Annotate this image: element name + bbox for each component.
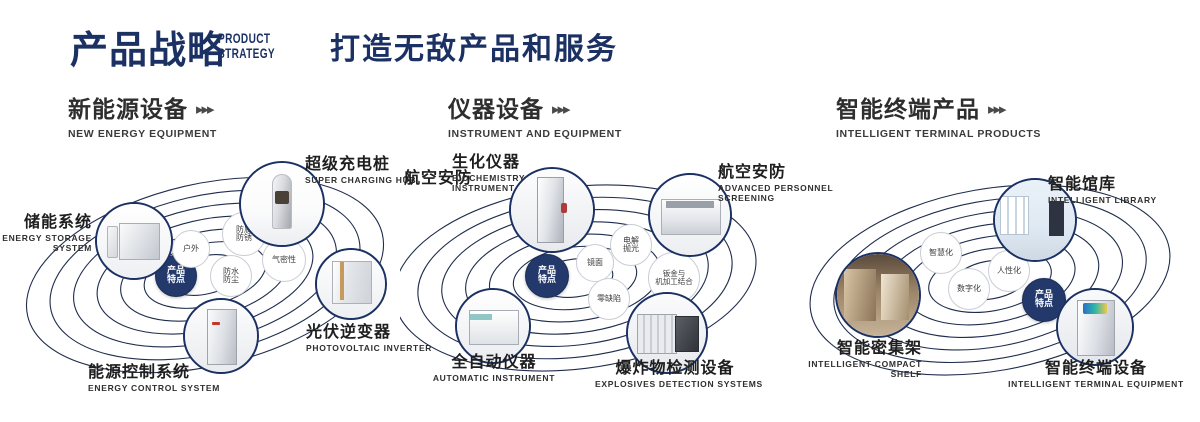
intelligent-terminal-equipment-photo	[1058, 290, 1132, 364]
product-circle-intelligent-compact-shelf[interactable]	[835, 252, 921, 338]
product-label-cn: 能源控制系统	[88, 362, 220, 381]
section-title-en: INSTRUMENT AND EQUIPMENT	[448, 128, 622, 140]
section-title-intelligent-terminal: 智能终端产品▸▸▸ INTELLIGENT TERMINAL PRODUCTS	[836, 96, 1041, 140]
section-title-en: INTELLIGENT TERMINAL PRODUCTS	[836, 128, 1041, 140]
product-label-en: INTELLIGENT TERMINAL EQUIPMENT	[998, 379, 1194, 389]
product-label-en: ENERGY CONTROL SYSTEM	[88, 383, 220, 393]
product-label-cn: 储能系统	[0, 212, 92, 231]
feature-bubble: 智慧化	[920, 232, 962, 274]
product-label-biochemistry-instrument: 生化仪器 BIOCHEMISTRY INSTRUMENT	[452, 152, 525, 193]
product-label-intelligent-compact-shelf: 智能密集架 INTELLIGENT COMPACT SHELF	[722, 338, 922, 379]
intelligent-compact-shelf-photo	[837, 254, 919, 336]
product-label-intelligent-terminal-equipment: 智能终端设备 INTELLIGENT TERMINAL EQUIPMENT	[998, 358, 1194, 389]
product-label-energy-storage-system: 储能系统 ENERGY STORAGE SYSTEM	[0, 212, 92, 253]
product-label-cn: 智能密集架	[722, 338, 922, 357]
product-label-cn: 生化仪器	[452, 152, 525, 171]
product-label-energy-control-system: 能源控制系统 ENERGY CONTROL SYSTEM	[88, 362, 220, 393]
section-title-cn: 智能终端产品▸▸▸	[836, 96, 1041, 123]
section-title-new-energy: 新能源设备▸▸▸ NEW ENERGY EQUIPMENT	[68, 96, 217, 140]
product-label-cn: 全自动仪器	[422, 352, 566, 371]
page-title: 产品战略	[70, 28, 226, 72]
product-label-en: BIOCHEMISTRY INSTRUMENT	[452, 173, 525, 193]
feature-bubble: 户外	[172, 230, 210, 268]
section-title-cn: 新能源设备▸▸▸	[68, 96, 217, 123]
product-label-en: AUTOMATIC INSTRUMENT	[422, 373, 566, 383]
page-tagline: 打造无敌产品和服务	[330, 30, 618, 70]
page-header: 产品战略 PRODUCT STRATEGY 打造无敌产品和服务	[0, 0, 1200, 82]
product-label-cn: 智能馆库	[1048, 174, 1157, 193]
section-title-instrument: 仪器设备▸▸▸ INSTRUMENT AND EQUIPMENT	[448, 96, 622, 140]
feature-bubble: 数字化	[948, 268, 990, 310]
page-title-english-line1: PRODUCT	[218, 31, 275, 46]
product-group-new-energy: 产品 特点 户外 防腐 防锈 防水 防尘 气密性 储能系统 ENERGY STO	[0, 150, 400, 420]
feature-bubble: 防水 防尘	[210, 255, 252, 297]
section-title-cn: 仪器设备▸▸▸	[448, 96, 622, 123]
product-label-intelligent-library: 智能馆库 INTELLIGENT LIBRARY	[1048, 174, 1157, 205]
product-label-en: EXPLOSIVES DETECTION SYSTEMS	[595, 379, 755, 389]
page-title-english: PRODUCT STRATEGY	[218, 31, 275, 61]
chevron-right-icon: ▸▸▸	[988, 96, 1005, 122]
energy-storage-system-photo	[97, 204, 171, 278]
product-circle-energy-storage-system[interactable]	[95, 202, 173, 280]
product-circle-intelligent-terminal-equipment[interactable]	[1056, 288, 1134, 366]
product-group-instrument: 产品 特点 镜面 电解 抛光 零缺陷 钣金与 机加工结合 航空安防 生化仪器	[400, 150, 800, 420]
product-group-intelligent-terminal: 智慧化 数字化 人性化 产品 特点 智能馆库 INTELLIGENT LIBRA…	[800, 150, 1200, 420]
page-title-english-line2: STRATEGY	[218, 46, 275, 61]
product-label-en: INTELLIGENT COMPACT SHELF	[722, 359, 922, 379]
product-label-cn: 智能终端设备	[998, 358, 1194, 377]
feature-bubble: 零缺陷	[588, 278, 630, 320]
product-label-en: ENERGY STORAGE SYSTEM	[0, 233, 92, 253]
photovoltaic-inverter-photo	[317, 250, 385, 318]
feature-bubble: 电解 抛光	[610, 224, 652, 266]
chevron-right-icon: ▸▸▸	[196, 96, 213, 122]
product-label-automatic-instrument: 全自动仪器 AUTOMATIC INSTRUMENT	[422, 352, 566, 383]
feature-bubble: 镜面	[576, 244, 614, 282]
core-badge: 产品 特点	[525, 254, 569, 298]
section-title-en: NEW ENERGY EQUIPMENT	[68, 128, 217, 140]
chevron-right-icon: ▸▸▸	[552, 96, 569, 122]
product-circle-photovoltaic-inverter[interactable]	[315, 248, 387, 320]
product-label-en: INTELLIGENT LIBRARY	[1048, 195, 1157, 205]
